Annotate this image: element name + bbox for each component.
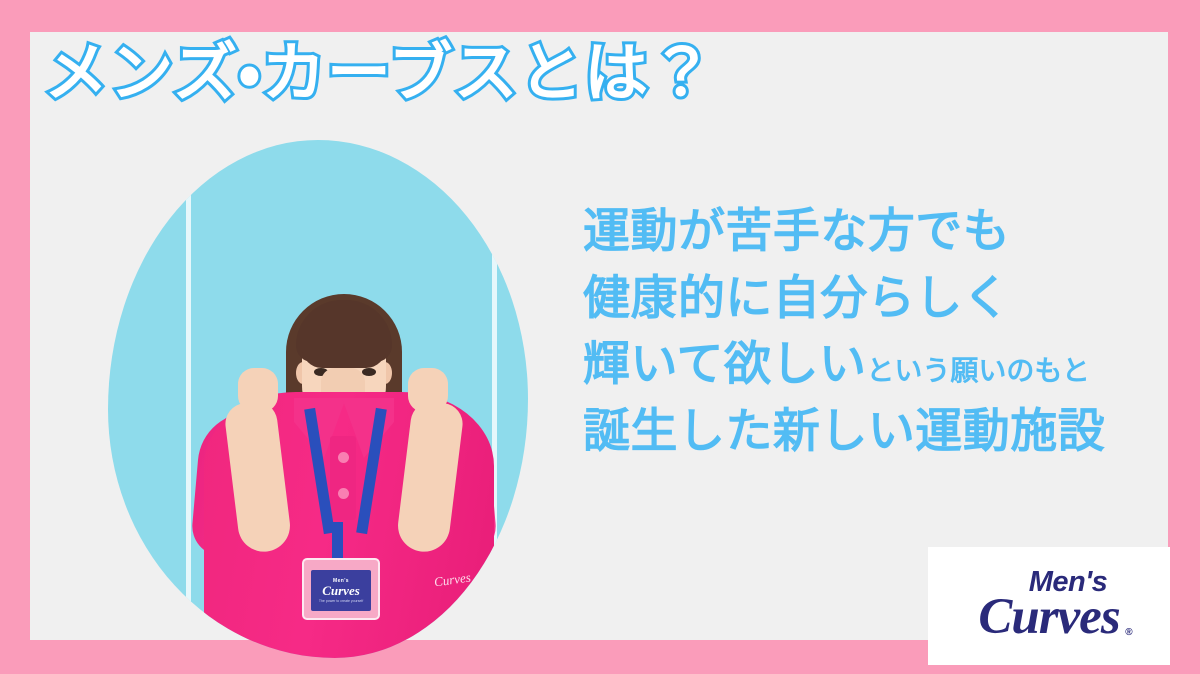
brand-logo: Men's Curves®: [928, 547, 1170, 665]
copy-line-main: 運動が苦手な方でも: [583, 204, 1010, 257]
staff-figure: Men's Curves The power to create yoursel…: [108, 140, 528, 658]
copy-line: 運動が苦手な方でも: [583, 198, 1200, 265]
fist-right: [408, 368, 448, 412]
content-panel: メンズ・カーブスとは？: [30, 32, 1168, 640]
eye-right: [362, 368, 376, 376]
id-badge-card: Men's Curves The power to create yoursel…: [311, 570, 371, 611]
copy-line-main: 健康的に自分らしく: [583, 271, 1010, 324]
copy-line: 健康的に自分らしく: [583, 265, 1200, 332]
shirt-placket: [330, 436, 356, 520]
shirt-button-bottom: [338, 488, 349, 499]
shirt-button-top: [338, 452, 349, 463]
fist-left: [238, 368, 278, 412]
id-badge-curves-text: Curves: [322, 584, 360, 597]
registered-trademark-icon: ®: [1125, 628, 1131, 639]
copy-line: 輝いて欲しいという願いのもと: [583, 331, 1200, 398]
page-title: メンズ・カーブスとは？: [44, 40, 715, 107]
brand-logo-curves: Curves®: [978, 591, 1119, 645]
copy-line: 誕生した新しい運動施設: [583, 398, 1200, 465]
staff-photo: Men's Curves The power to create yoursel…: [60, 130, 530, 658]
copy-line-main: 輝いて欲しい: [583, 337, 866, 390]
copy-line-main: 誕生した新しい運動施設: [583, 404, 1105, 457]
copy-line-small: という願いのもと: [866, 355, 1089, 386]
slide-root: メンズ・カーブスとは？: [0, 0, 1200, 674]
photo-oval-background: Men's Curves The power to create yoursel…: [108, 140, 528, 658]
copy-block: 運動が苦手な方でも 健康的に自分らしく 輝いて欲しいという願いのもと 誕生した新…: [583, 198, 1200, 465]
id-badge: Men's Curves The power to create yoursel…: [302, 558, 380, 620]
brand-logo-curves-text: Curves: [978, 589, 1119, 645]
id-badge-tagline: The power to create yourself: [319, 599, 363, 603]
